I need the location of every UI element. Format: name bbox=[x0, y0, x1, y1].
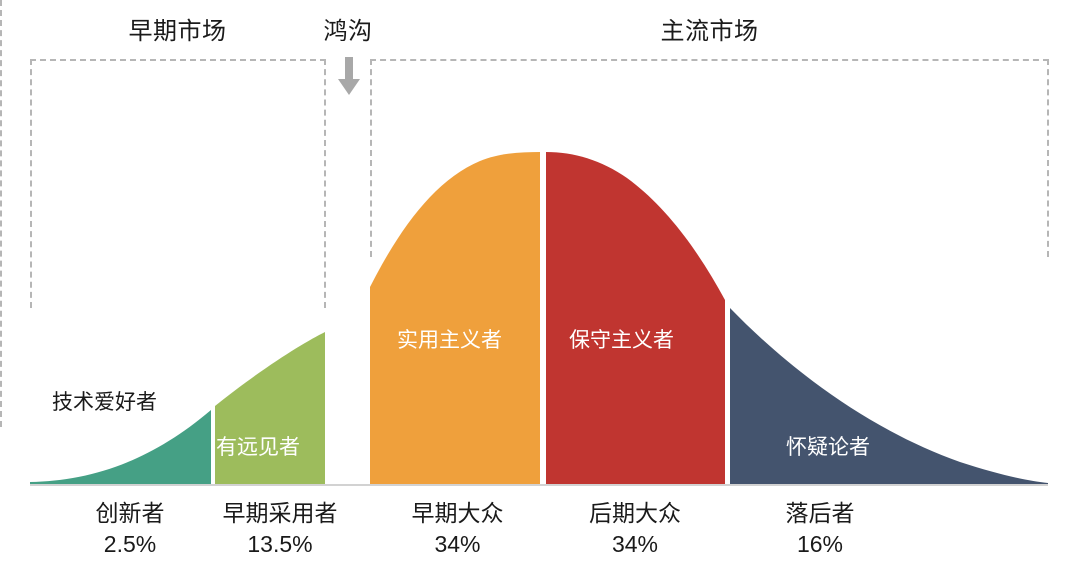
adoption-curve-diagram: 早期市场 鸿沟 主流市场 技术爱好者 有远见者 实用主义者 保守主义者 怀疑论者… bbox=[0, 0, 1080, 581]
segment-footer-late-majority: 后期大众 34% bbox=[545, 498, 725, 560]
segment-footer-row: 创新者 2.5% 早期采用者 13.5% 早期大众 34% 后期大众 34% 落… bbox=[0, 498, 1080, 573]
segment-percent: 34% bbox=[370, 528, 545, 560]
curve-segment-late-majority bbox=[546, 152, 725, 484]
segment-name: 后期大众 bbox=[545, 498, 725, 528]
curve-segment-early-majority bbox=[370, 152, 540, 484]
segment-footer-early-majority: 早期大众 34% bbox=[370, 498, 545, 560]
segment-name: 早期采用者 bbox=[185, 498, 375, 528]
curve-label-pragmatists: 实用主义者 bbox=[397, 330, 502, 351]
curve-label-conservatives: 保守主义者 bbox=[569, 330, 674, 351]
curve-segment-innovators bbox=[30, 410, 211, 484]
curve-segment-laggards bbox=[730, 308, 1048, 484]
segment-footer-early-adopters: 早期采用者 13.5% bbox=[185, 498, 375, 560]
curve-label-skeptics: 怀疑论者 bbox=[786, 437, 870, 458]
segment-percent: 34% bbox=[545, 528, 725, 560]
segment-footer-laggards: 落后者 16% bbox=[730, 498, 910, 560]
segment-name: 早期大众 bbox=[370, 498, 545, 528]
curve-baseline bbox=[30, 484, 1048, 486]
segment-name: 落后者 bbox=[730, 498, 910, 528]
curve-segment-early-adopters bbox=[215, 332, 325, 484]
adoption-curve-graphic bbox=[0, 0, 1080, 581]
curve-label-technology-enthusiasts: 技术爱好者 bbox=[52, 392, 157, 413]
segment-percent: 16% bbox=[730, 528, 910, 560]
curve-label-visionaries: 有远见者 bbox=[216, 437, 300, 458]
segment-percent: 13.5% bbox=[185, 528, 375, 560]
